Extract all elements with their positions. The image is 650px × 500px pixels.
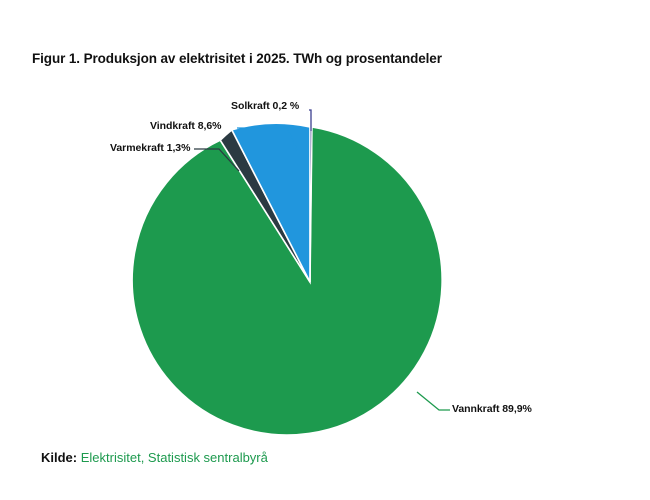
source-link[interactable]: Elektrisitet, Statistisk sentralbyrå (81, 450, 268, 465)
pie-label-varmekraft: Varmekraft 1,3% (110, 142, 190, 154)
pie-chart-svg (0, 0, 650, 500)
leader-line-vannkraft (417, 392, 450, 410)
figure-container: Figur 1. Produksjon av elektrisitet i 20… (0, 0, 650, 500)
pie-label-solkraft: Solkraft 0,2 % (231, 100, 299, 112)
pie-label-vindkraft: Vindkraft 8,6% (150, 120, 221, 132)
pie-label-vannkraft: Vannkraft 89,9% (452, 403, 532, 415)
source-label: Kilde: (41, 450, 77, 465)
source-line: Kilde: Elektrisitet, Statistisk sentralb… (41, 450, 268, 465)
pie-slices (132, 123, 442, 435)
